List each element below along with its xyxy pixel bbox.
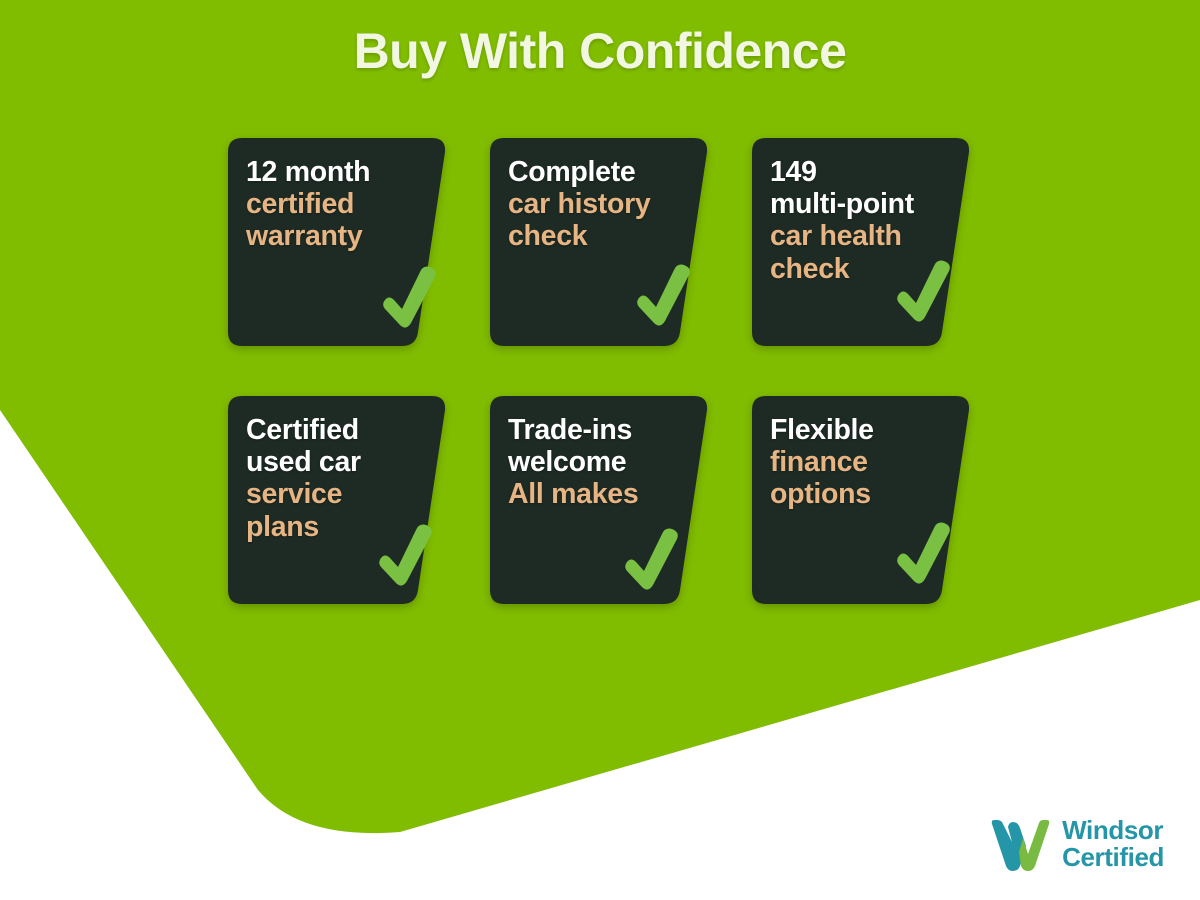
card-line-tan: car history xyxy=(508,188,682,220)
card-line-white: welcome xyxy=(508,446,682,478)
check-icon xyxy=(620,526,682,596)
card-line-white: Trade-ins xyxy=(508,414,682,446)
check-icon xyxy=(378,264,440,334)
card-line-tan: check xyxy=(508,220,682,252)
card-line-white: multi-point xyxy=(770,188,944,220)
benefit-card-trade-ins[interactable]: Trade-ins welcome All makes xyxy=(490,396,708,604)
card-text: 12 month certified warranty xyxy=(246,156,420,253)
card-line-tan: options xyxy=(770,478,944,510)
check-icon xyxy=(374,522,436,592)
check-icon xyxy=(892,258,954,328)
card-line-white: used car xyxy=(246,446,420,478)
card-line-tan: All makes xyxy=(508,478,682,510)
page-title: Buy With Confidence xyxy=(0,22,1200,80)
card-line-white: Flexible xyxy=(770,414,944,446)
logo-wordmark: Windsor Certified xyxy=(1062,817,1164,870)
card-line-white: Complete xyxy=(508,156,682,188)
infographic-canvas: Buy With Confidence 12 month certified w… xyxy=(0,0,1200,900)
windsor-certified-logo[interactable]: Windsor Certified xyxy=(990,816,1164,872)
windsor-w-mark-icon xyxy=(990,816,1052,872)
check-icon xyxy=(892,520,954,590)
card-line-tan: finance xyxy=(770,446,944,478)
card-line-white: Certified xyxy=(246,414,420,446)
card-text: Trade-ins welcome All makes xyxy=(508,414,682,511)
card-line-white: 149 xyxy=(770,156,944,188)
logo-line-windsor: Windsor xyxy=(1062,817,1164,844)
card-row-top: 12 month certified warranty Complete car… xyxy=(228,138,988,346)
benefit-card-history-check[interactable]: Complete car history check xyxy=(490,138,708,346)
card-line-white: 12 month xyxy=(246,156,420,188)
card-text: Complete car history check xyxy=(508,156,682,253)
card-line-tan: service xyxy=(246,478,420,510)
card-line-tan: car health xyxy=(770,220,944,252)
benefit-card-warranty[interactable]: 12 month certified warranty xyxy=(228,138,446,346)
check-icon xyxy=(632,262,694,332)
logo-line-certified: Certified xyxy=(1062,844,1164,871)
card-line-tan: warranty xyxy=(246,220,420,252)
card-text: Flexible finance options xyxy=(770,414,944,511)
benefit-card-service-plans[interactable]: Certified used car service plans xyxy=(228,396,446,604)
benefit-card-health-check[interactable]: 149 multi-point car health check xyxy=(752,138,970,346)
card-row-bottom: Certified used car service plans Trade-i… xyxy=(228,396,988,604)
benefit-card-finance-options[interactable]: Flexible finance options xyxy=(752,396,970,604)
benefit-card-grid: 12 month certified warranty Complete car… xyxy=(228,138,988,654)
card-line-tan: certified xyxy=(246,188,420,220)
